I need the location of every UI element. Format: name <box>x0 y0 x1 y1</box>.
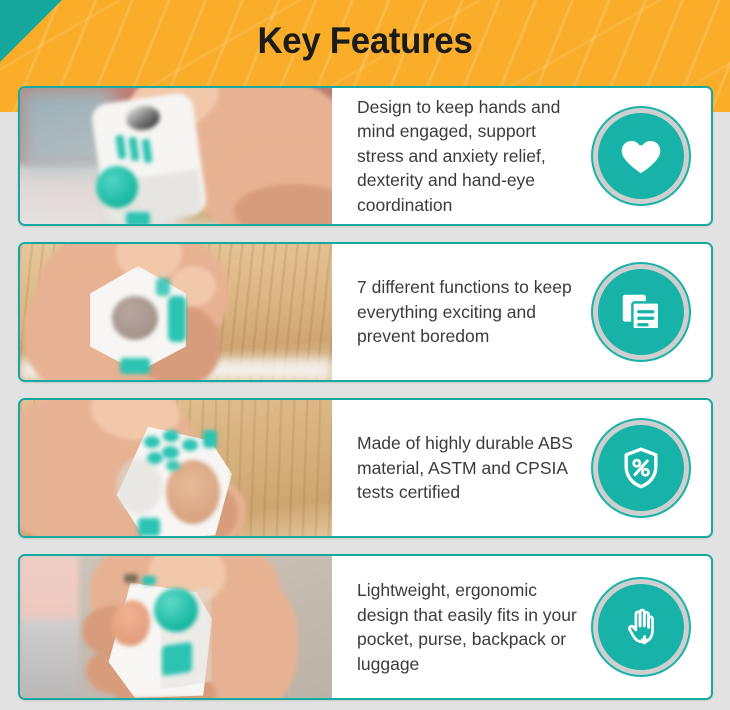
feature-content: 7 different functions to keep everything… <box>332 244 711 380</box>
feature-photo <box>20 556 332 698</box>
documents-icon <box>618 289 664 335</box>
feature-content: Design to keep hands and mind engaged, s… <box>332 88 711 224</box>
hand-icon-badge <box>593 579 689 675</box>
feature-photo <box>20 244 332 380</box>
photo-illustration-4 <box>20 556 332 698</box>
feature-text: Made of highly durable ABS material, AST… <box>332 431 593 505</box>
feature-card: Made of highly durable ABS material, AST… <box>18 398 713 538</box>
feature-photo <box>20 88 332 224</box>
feature-text: Lightweight, ergonomic design that easil… <box>332 578 593 676</box>
feature-photo <box>20 400 332 536</box>
shield-percent-icon-badge <box>593 420 689 516</box>
feature-text: 7 different functions to keep everything… <box>332 275 593 349</box>
photo-illustration-3 <box>20 400 332 536</box>
feature-card: Lightweight, ergonomic design that easil… <box>18 554 713 700</box>
heart-icon <box>618 133 664 179</box>
feature-content: Lightweight, ergonomic design that easil… <box>332 556 711 698</box>
feature-card: 7 different functions to keep everything… <box>18 242 713 382</box>
hand-icon <box>619 605 663 649</box>
photo-illustration-2 <box>20 244 332 380</box>
documents-icon-badge <box>593 264 689 360</box>
feature-card: Design to keep hands and mind engaged, s… <box>18 86 713 226</box>
page-title: Key Features <box>22 20 708 62</box>
feature-content: Made of highly durable ABS material, AST… <box>332 400 711 536</box>
key-features-infographic: Key Features <box>0 0 730 710</box>
feature-text: Design to keep hands and mind engaged, s… <box>332 95 593 218</box>
shield-percent-icon <box>617 444 665 492</box>
photo-illustration-1 <box>20 88 332 224</box>
heart-icon-badge <box>593 108 689 204</box>
